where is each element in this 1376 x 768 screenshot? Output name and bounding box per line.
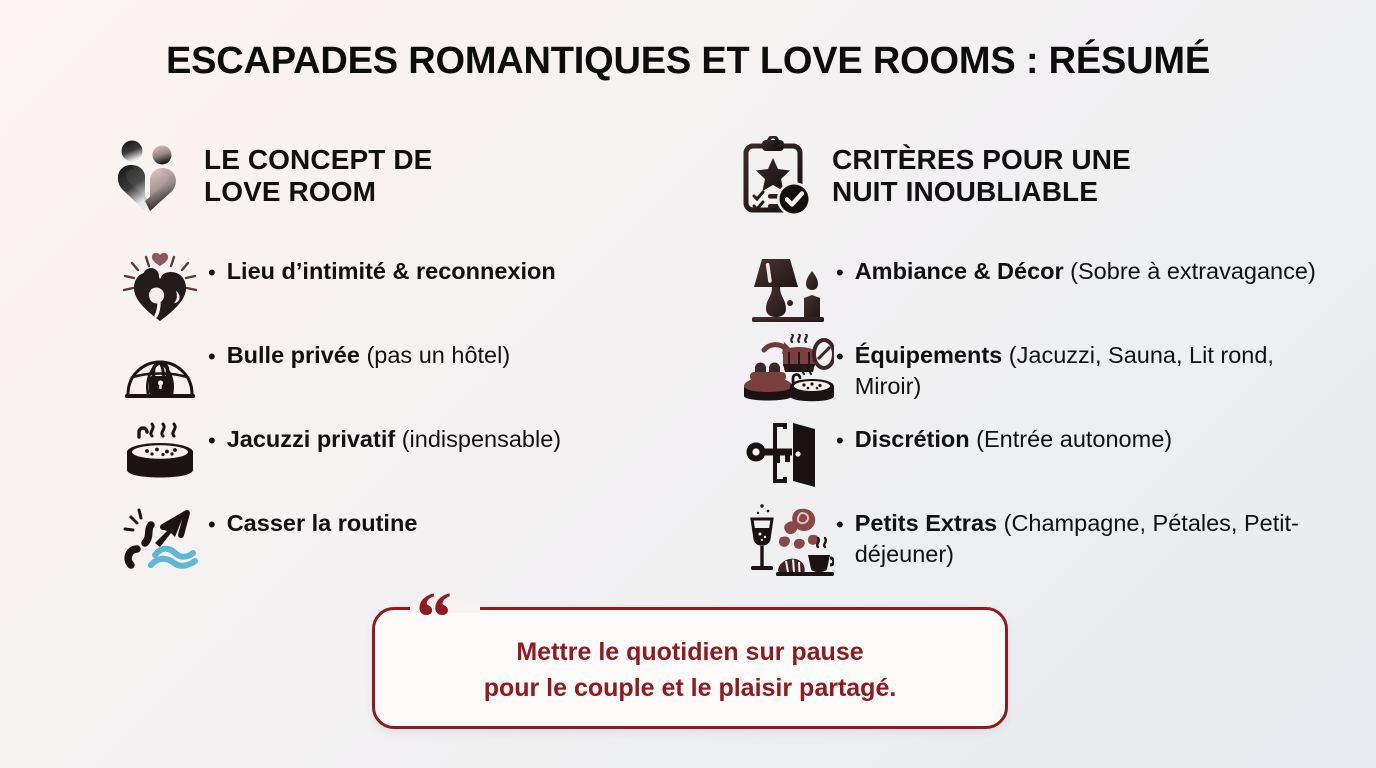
list-item-bold: Jacuzzi privatif [227,426,395,452]
list-item-rest: (Sobre à extravagance) [1064,258,1316,284]
list-item-bold: Lieu d’intimité & reconnexion [227,258,556,284]
bullet-marker: • [836,514,844,536]
list-item-text: Bulle privée (pas un hôtel) [227,340,510,371]
list-item-body: • Lieu d’intimité & reconnexion [208,248,556,287]
list-item: • Casser la routine [112,500,722,584]
infographic-canvas: ESCAPADES ROMANTIQUES ET LOVE ROOMS : RÉ… [0,0,1376,768]
list-item-rest: (Entrée autonome) [970,426,1172,452]
list-item: • Jacuzzi privatif (indispensable) [112,416,722,500]
list-item-text: Jacuzzi privatif (indispensable) [227,424,561,455]
bullet-marker: • [208,514,216,536]
concept-item-list: • Lieu d’intimité & reconnexion [112,248,722,584]
list-item-text: Casser la routine [227,508,418,539]
list-item-text: Petits Extras (Champagne, Pétales, Petit… [855,508,1325,570]
column-criteres-header: CRITÈRES POUR UNE NUIT INOUBLIABLE [740,130,1350,222]
criteres-item-list: • Ambiance & Décor (Sobre à extravagance… [740,248,1350,584]
bed-sauna-mirror-jacuzzi-icon [740,332,836,410]
list-item-body: • Casser la routine [208,500,417,539]
jacuzzi-icon [112,416,208,494]
bullet-marker: • [208,430,216,452]
list-item-bold: Casser la routine [227,510,418,536]
list-item-body: • Petits Extras (Champagne, Pétales, Pet… [836,500,1325,570]
page-title: ESCAPADES ROMANTIQUES ET LOVE ROOMS : RÉ… [0,40,1376,83]
bullet-marker: • [208,346,216,368]
list-item-rest: (pas un hôtel) [360,342,510,368]
list-item-bold: Bulle privée [227,342,360,368]
column-concept-header: LE CONCEPT DE LOVE ROOM [112,130,722,222]
couple-heart-icon [112,136,186,216]
column-criteres-heading: CRITÈRES POUR UNE NUIT INOUBLIABLE [832,144,1131,208]
list-item: • Petits Extras (Champagne, Pétales, Pet… [740,500,1350,584]
list-item: • Ambiance & Décor (Sobre à extravagance… [740,248,1350,332]
heading-line-2: NUIT INOUBLIABLE [832,176,1131,208]
bullet-marker: • [836,346,844,368]
column-concept-heading: LE CONCEPT DE LOVE ROOM [204,144,432,208]
bullet-marker: • [836,430,844,452]
list-item-text: Ambiance & Décor (Sobre à extravagance) [855,256,1316,287]
quote-line-1: Mettre le quotidien sur pause [516,638,863,666]
list-item: • Lieu d’intimité & reconnexion [112,248,722,332]
couple-in-heart-icon [112,248,208,326]
list-item-text: Équipements (Jacuzzi, Sauna, Lit rond, M… [855,340,1325,402]
list-item-text: Lieu d’intimité & reconnexion [227,256,556,287]
list-item-body: • Discrétion (Entrée autonome) [836,416,1172,455]
list-item: • Discrétion (Entrée autonome) [740,416,1350,500]
list-item-bold: Équipements [855,342,1003,368]
list-item-body: • Équipements (Jacuzzi, Sauna, Lit rond,… [836,332,1325,402]
list-item-bold: Petits Extras [855,510,997,536]
list-item-body: • Bulle privée (pas un hôtel) [208,332,510,371]
heading-line-1: CRITÈRES POUR UNE [832,144,1131,176]
bullet-marker: • [208,262,216,284]
list-item-rest: (indispensable) [395,426,561,452]
break-routine-wave-icon [112,500,208,578]
list-item: • Bulle privée (pas un hôtel) [112,332,722,416]
privacy-dome-lock-icon [112,332,208,410]
list-item-body: • Jacuzzi privatif (indispensable) [208,416,561,455]
champagne-rose-breakfast-icon [740,500,836,578]
list-item: • Équipements (Jacuzzi, Sauna, Lit rond,… [740,332,1350,416]
heading-line-1: LE CONCEPT DE [204,144,432,176]
key-door-icon [740,416,836,494]
list-item-body: • Ambiance & Décor (Sobre à extravagance… [836,248,1316,287]
clipboard-checklist-star-icon [740,136,814,216]
quote-callout: “ Mettre le quotidien sur pause pour le … [372,607,1008,729]
column-concept: LE CONCEPT DE LOVE ROOM [112,130,722,584]
bullet-marker: • [836,262,844,284]
lamp-candle-icon [740,248,836,326]
heading-line-2: LOVE ROOM [204,176,432,208]
quote-line-2: pour le couple et le plaisir partagé. [372,671,1008,707]
list-item-bold: Discrétion [855,426,970,452]
column-criteres: CRITÈRES POUR UNE NUIT INOUBLIABLE [740,130,1350,584]
list-item-text: Discrétion (Entrée autonome) [855,424,1172,455]
list-item-bold: Ambiance & Décor [855,258,1064,284]
quote-text: Mettre le quotidien sur pause pour le co… [372,635,1008,706]
